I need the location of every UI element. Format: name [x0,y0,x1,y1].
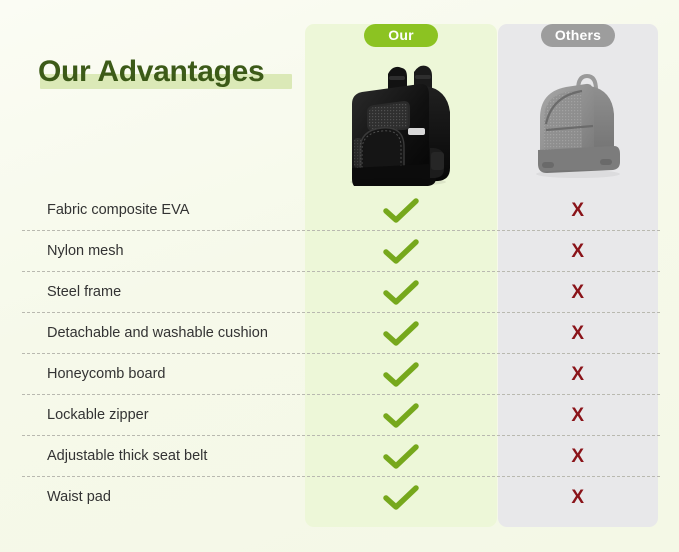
column-badge-others: Others [541,24,615,47]
cell-others-no: X [498,477,658,518]
page-title: Our Advantages [38,52,264,92]
table-row: Waist pad X [0,477,679,518]
green-check-icon [383,444,419,470]
table-row: Fabric composite EVA X [0,190,679,231]
green-check-icon [383,321,419,347]
feature-label: Detachable and washable cushion [47,313,268,354]
cell-others-no: X [498,354,658,395]
green-check-icon [383,403,419,429]
cell-our-yes [305,231,497,272]
cell-our-yes [305,272,497,313]
feature-label: Adjustable thick seat belt [47,436,207,477]
cell-our-yes [305,395,497,436]
table-row: Honeycomb board X [0,354,679,395]
comparison-chart-page: Our Advantages Our Others [0,0,679,552]
feature-label: Fabric composite EVA [47,190,189,231]
feature-label: Steel frame [47,272,121,313]
cell-our-yes [305,190,497,231]
feature-label: Nylon mesh [47,231,124,272]
table-row: Lockable zipper X [0,395,679,436]
green-check-icon [383,198,419,224]
green-check-icon [383,362,419,388]
column-badge-our: Our [364,24,438,47]
green-check-icon [383,485,419,511]
feature-comparison-table: Fabric composite EVA X Nylon mesh X Stee… [0,190,679,518]
green-check-icon [383,239,419,265]
cell-others-no: X [498,231,658,272]
page-title-wrapper: Our Advantages [38,52,264,94]
feature-label: Waist pad [47,477,111,518]
table-row: Steel frame X [0,272,679,313]
cell-others-no: X [498,395,658,436]
table-row: Adjustable thick seat belt X [0,436,679,477]
green-check-icon [383,280,419,306]
cell-our-yes [305,354,497,395]
product-image-others [520,62,642,186]
table-row: Nylon mesh X [0,231,679,272]
cell-others-no: X [498,436,658,477]
cell-our-yes [305,436,497,477]
feature-label: Honeycomb board [47,354,166,395]
cell-our-yes [305,477,497,518]
cell-others-no: X [498,313,658,354]
cell-our-yes [305,313,497,354]
feature-label: Lockable zipper [47,395,149,436]
cell-others-no: X [498,272,658,313]
cell-others-no: X [498,190,658,231]
product-image-our [330,56,472,186]
table-row: Detachable and washable cushion X [0,313,679,354]
